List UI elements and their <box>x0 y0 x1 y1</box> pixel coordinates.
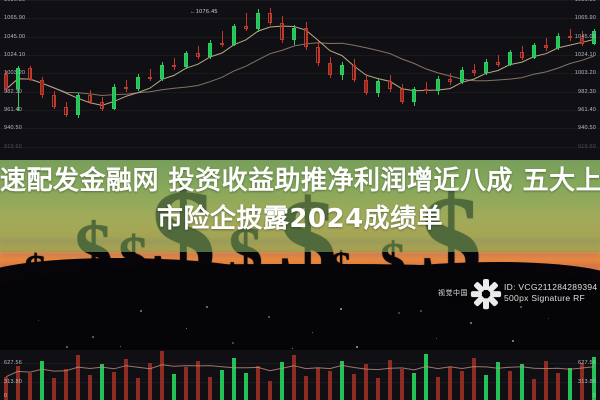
candle-body <box>424 89 428 91</box>
candle-body <box>328 63 332 75</box>
candle-body <box>256 13 260 29</box>
candle-body <box>472 70 476 74</box>
price-axis-tick: 982.30 <box>4 89 22 95</box>
headline-line-2: 市险企披露2024成绩单 <box>0 200 600 238</box>
volume-chart-panel: 941.39627.56313.800 941.39627.56313.800 <box>0 345 600 400</box>
candlestick <box>460 67 464 84</box>
light-speck <box>340 308 342 310</box>
candle-body <box>412 89 416 101</box>
candle-body <box>376 81 380 93</box>
candlestick <box>268 8 272 26</box>
starburst-logo-icon <box>471 278 501 308</box>
candlestick <box>508 50 512 67</box>
price-axis-tick: 919.60 <box>4 144 22 150</box>
price-axis-tick: 1065.90 <box>4 15 25 21</box>
screenshot-canvas: 1086.801065.901045.001024.101003.20982.3… <box>0 0 600 400</box>
candlestick <box>412 87 416 106</box>
candlestick <box>376 78 380 97</box>
candlestick <box>304 22 308 50</box>
candlestick <box>424 82 428 93</box>
candle-body <box>364 80 368 93</box>
candlestick <box>544 38 548 50</box>
light-speck <box>120 346 121 347</box>
candle-body <box>112 87 116 109</box>
candle-wick <box>150 69 151 81</box>
watermark: 视觉中国 ID: VCG211284289394 500px Signature… <box>438 278 597 308</box>
volume-axis-tick: 627.56 <box>578 360 596 366</box>
candle-body <box>532 45 536 57</box>
light-speck <box>186 328 187 329</box>
candle-body <box>232 26 236 44</box>
candlestick <box>136 74 140 91</box>
candlestick <box>124 80 128 92</box>
candlestick <box>256 9 260 32</box>
candlestick <box>364 74 368 96</box>
candle-wick <box>426 82 427 93</box>
candle-body <box>184 53 188 67</box>
light-speck <box>66 346 68 348</box>
light-speck <box>420 310 422 312</box>
candle-body <box>64 107 68 115</box>
candlestick <box>196 46 200 59</box>
candle-body <box>52 95 56 106</box>
candlestick <box>340 62 344 80</box>
candlestick <box>220 31 224 48</box>
candlestick <box>520 46 524 60</box>
candlestick <box>388 75 392 92</box>
candlestick <box>568 29 572 41</box>
candle-body <box>352 65 356 80</box>
light-speck <box>356 346 358 348</box>
chart-annotation: ←1076.45 <box>190 9 218 15</box>
price-axis-tick: 1065.90 <box>575 15 596 21</box>
headline-line-1: 速配发金融网 投资收益助推净利润增近八成 五大上 <box>0 162 600 200</box>
price-axis-tick: 1086.80 <box>4 0 25 3</box>
price-axis-tick: 1045.00 <box>575 34 596 40</box>
candle-body <box>268 13 272 23</box>
candlestick <box>184 51 188 69</box>
volume-ma-line <box>0 345 600 400</box>
candlestick <box>328 57 332 78</box>
price-axis-tick: 1024.10 <box>4 52 25 58</box>
candle-body <box>124 87 128 90</box>
watermark-text-block: ID: VCG211284289394 500px Signature RF <box>504 282 597 304</box>
candlestick <box>448 73 452 85</box>
candle-body <box>244 26 248 29</box>
candle-body <box>436 79 440 91</box>
price-axis-tick: 961.40 <box>578 107 596 113</box>
candle-body <box>292 28 296 40</box>
candle-body <box>496 62 500 65</box>
candle-body <box>568 36 572 39</box>
candle-body <box>460 70 464 82</box>
candlestick <box>472 64 476 76</box>
watermark-id: ID: VCG211284289394 <box>504 282 597 293</box>
light-speck <box>548 318 549 319</box>
candlestick <box>160 62 164 80</box>
candle-body <box>172 65 176 68</box>
candlestick <box>436 76 440 95</box>
price-axis-tick: 961.40 <box>4 107 22 113</box>
light-speck <box>292 348 293 349</box>
candlestick <box>148 69 152 81</box>
candlestick <box>40 77 44 98</box>
light-speck <box>436 338 437 339</box>
candlestick <box>556 33 560 50</box>
price-axis-tick: 1003.20 <box>575 70 596 76</box>
candle-body <box>100 102 104 109</box>
candle-body <box>280 23 284 41</box>
candlestick <box>88 90 92 104</box>
candlestick <box>208 40 212 58</box>
candlestick <box>316 41 320 66</box>
candle-body <box>340 65 344 76</box>
candle-body <box>484 62 488 73</box>
volume-axis-tick: 313.80 <box>4 379 22 385</box>
candle-body <box>196 53 200 57</box>
candle-body <box>4 74 8 89</box>
candle-body <box>76 95 80 114</box>
volume-axis-tick: 627.56 <box>4 360 22 366</box>
candle-body <box>208 43 212 57</box>
volume-axis-tick: 313.80 <box>578 379 596 385</box>
watermark-license: 500px Signature RF <box>504 293 597 304</box>
headline-text: 速配发金融网 投资收益助推净利润增近八成 五大上 市险企披露2024成绩单 <box>0 162 600 238</box>
candlestick <box>484 59 488 75</box>
candle-body <box>40 80 44 96</box>
candle-body <box>316 47 320 63</box>
candle-body <box>148 77 152 79</box>
candlestick <box>172 58 176 70</box>
light-speck <box>312 332 313 333</box>
candle-body <box>556 36 560 48</box>
candlestick <box>244 13 248 31</box>
price-axis-tick: 1086.80 <box>575 0 596 3</box>
candlestick <box>100 97 104 111</box>
candlestick <box>52 91 56 109</box>
moving-average-lines <box>0 0 600 165</box>
volume-axis-tick: 0 <box>4 393 7 399</box>
price-axis-tick: 1024.10 <box>575 52 596 58</box>
candle-body <box>400 89 404 101</box>
watermark-brand-label: 视觉中国 <box>438 288 468 298</box>
price-axis-tick: 1003.20 <box>4 70 25 76</box>
light-speck <box>92 336 94 338</box>
candlestick <box>76 93 80 118</box>
candlestick <box>112 84 116 110</box>
candlestick <box>232 24 236 47</box>
candle-body <box>520 52 524 57</box>
light-speck <box>470 322 472 324</box>
candle-body <box>508 52 512 64</box>
candle-body <box>88 95 92 101</box>
volume-axis-tick: 0 <box>593 393 596 399</box>
candle-body <box>388 81 392 90</box>
price-axis-tick: 982.30 <box>578 89 596 95</box>
candle-body <box>28 68 32 79</box>
candlestick <box>400 84 404 104</box>
candlestick <box>28 66 32 81</box>
price-chart-panel: 1086.801065.901045.001024.101003.20982.3… <box>0 0 600 165</box>
price-axis-tick: 940.50 <box>4 125 22 131</box>
price-axis-tick: 1045.00 <box>4 34 25 40</box>
candle-body <box>160 65 164 79</box>
price-axis-tick: 940.50 <box>578 125 596 131</box>
candlestick <box>292 25 296 44</box>
candle-body <box>220 43 224 45</box>
candle-body <box>544 45 548 48</box>
price-axis-tick: 919.60 <box>578 144 596 150</box>
candle-body <box>448 79 452 83</box>
candlestick <box>352 59 356 82</box>
candlestick <box>64 102 68 117</box>
candlestick <box>496 55 500 67</box>
light-speck <box>38 320 39 321</box>
candlestick <box>280 16 284 42</box>
candlestick <box>532 43 536 60</box>
candle-body <box>136 77 140 89</box>
light-speck <box>232 342 234 344</box>
candle-body <box>304 28 308 47</box>
